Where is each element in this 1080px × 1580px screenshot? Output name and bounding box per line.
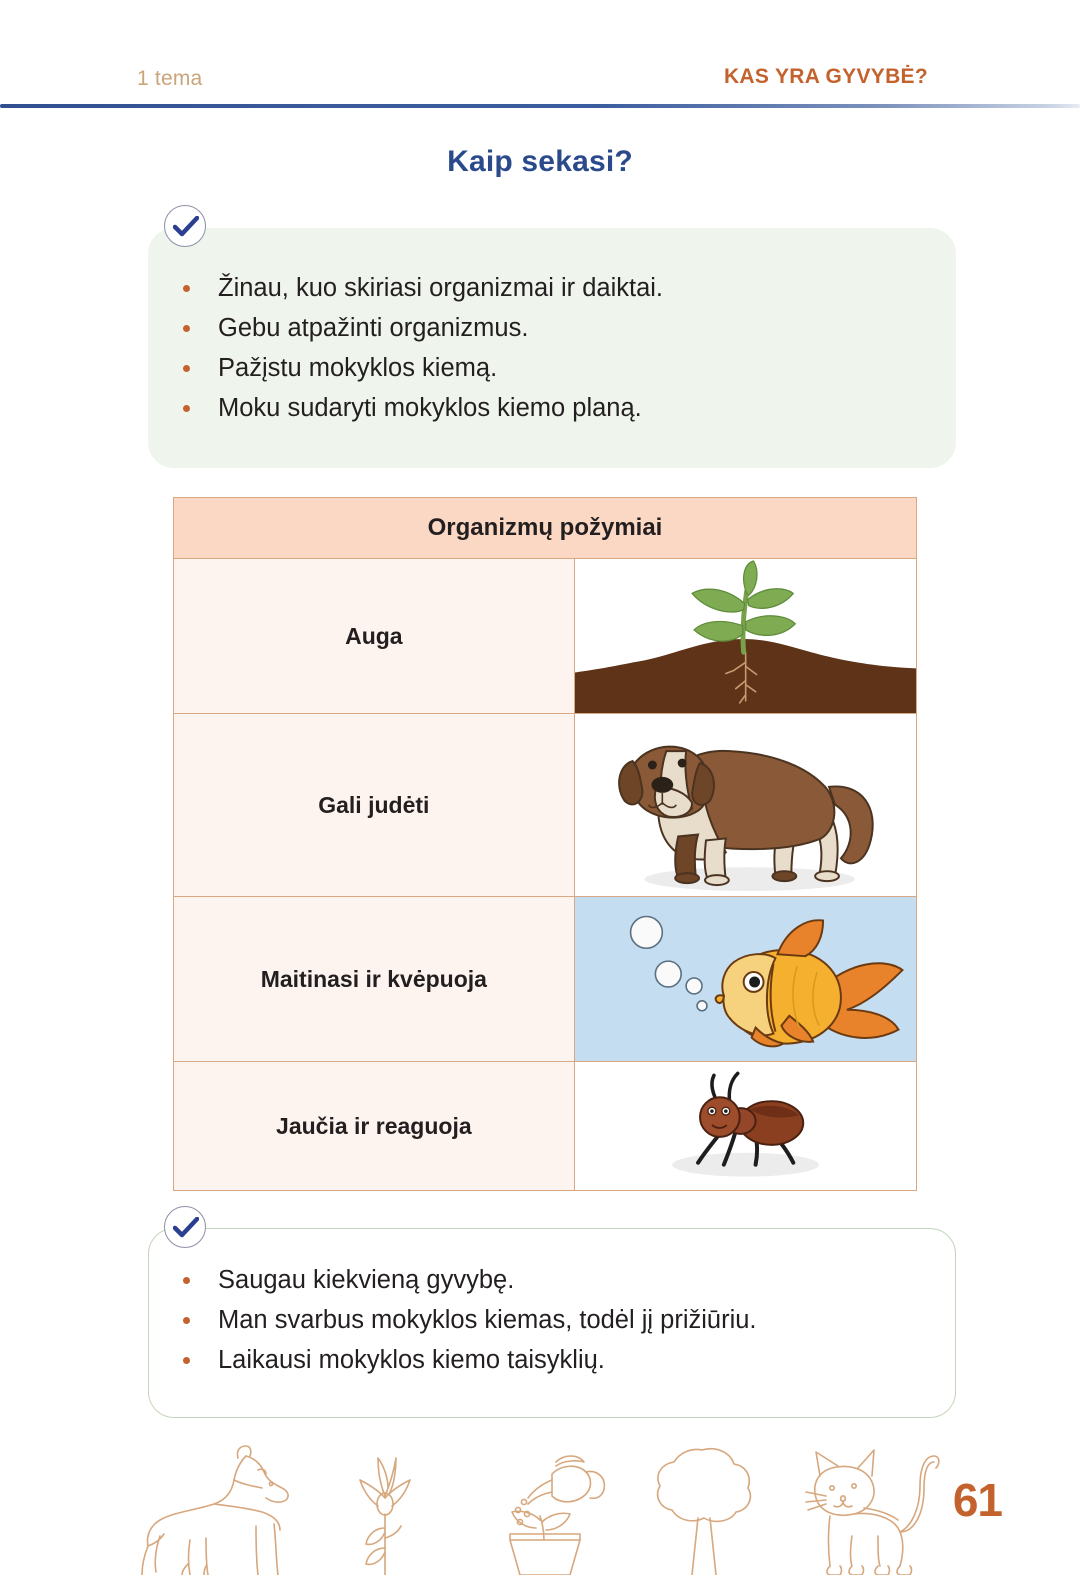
row-image-cell [574,714,916,897]
checklist-bottom-list: Saugau kiekvieną gyvybę. Man svarbus mok… [180,1260,757,1380]
topic-label: 1 tema [137,68,202,89]
row-image-cell [574,897,916,1062]
checklist-top-list: Žinau, kuo skiriasi organizmai ir daikta… [180,268,663,428]
list-item: Gebu atpažinti organizmus. [180,308,663,348]
ant-illustration [575,1062,916,1190]
horse-outline-icon [130,1440,315,1575]
seedling-in-soil-illustration [575,559,916,713]
table-header-row: Organizmų požymiai [174,498,917,559]
page-number: 61 [953,1473,1002,1527]
footer-decoration [130,1440,920,1580]
check-circle-icon [164,205,206,247]
unit-title: KAS YRA GYVYBĖ? [724,66,928,87]
row-image-cell [574,559,916,714]
header-divider [0,104,1080,108]
dog-illustration [575,714,916,896]
row-label: Gali judėti [174,714,575,897]
table-row: Gali judėti [174,714,917,897]
row-label: Jaučia ir reaguoja [174,1062,575,1191]
list-item: Man svarbus mokyklos kiemas, todėl jį pr… [180,1300,757,1340]
tree-outline-icon [640,1440,765,1575]
table-row: Maitinasi ir kvėpuoja [174,897,917,1062]
goldfish-in-water-illustration [575,897,916,1061]
cat-outline-icon [800,1440,940,1575]
list-item: Saugau kiekvieną gyvybę. [180,1260,757,1300]
list-item: Moku sudaryti mokyklos kiemo planą. [180,388,663,428]
table-row: Auga [174,559,917,714]
flower-outline-icon [338,1440,433,1575]
row-label: Auga [174,559,575,714]
list-item: Laikausi mokyklos kiemo taisyklių. [180,1340,757,1380]
row-image-cell [574,1062,916,1191]
watering-can-plant-outline-icon [480,1440,610,1575]
list-item: Žinau, kuo skiriasi organizmai ir daikta… [180,268,663,308]
page-header: 1 tema KAS YRA GYVYBĖ? [0,0,1080,110]
table-row: Jaučia ir reaguoja [174,1062,917,1191]
row-label: Maitinasi ir kvėpuoja [174,897,575,1062]
page-title: Kaip sekasi? [0,145,1080,179]
organism-traits-table: Organizmų požymiai Auga [173,497,917,1191]
list-item: Pažįstu mokyklos kiemą. [180,348,663,388]
check-circle-icon [164,1206,206,1248]
table-header-cell: Organizmų požymiai [174,498,917,559]
